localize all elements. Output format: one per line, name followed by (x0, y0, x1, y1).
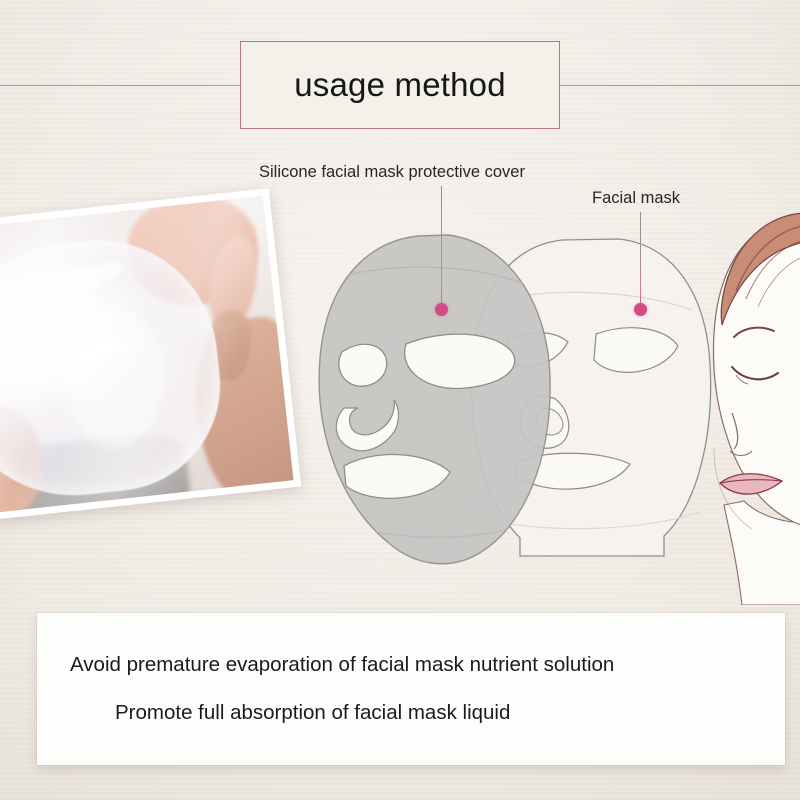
mask-illustration-group (300, 218, 720, 578)
page-title: usage method (294, 66, 506, 104)
callout-dot-silicone (435, 303, 448, 316)
leader-line-facial (640, 212, 641, 306)
leader-line-silicone (441, 186, 442, 306)
caption-line-1: Avoid premature evaporation of facial ma… (37, 653, 785, 677)
callout-label-silicone-cover: Silicone facial mask protective cover (259, 163, 525, 182)
callout-label-facial-mask: Facial mask (592, 189, 680, 208)
title-box: usage method (240, 41, 560, 129)
promo-graphic-root: Silicone facial mask protective cover Fa… (0, 0, 800, 800)
callout-dot-facial (634, 303, 647, 316)
photo-inset-frame (0, 188, 301, 524)
caption-line-2: Promote full absorption of facial mask l… (37, 701, 785, 725)
photo-silicone-mask-in-hands (0, 196, 293, 516)
caption-panel: Avoid premature evaporation of facial ma… (37, 613, 785, 765)
